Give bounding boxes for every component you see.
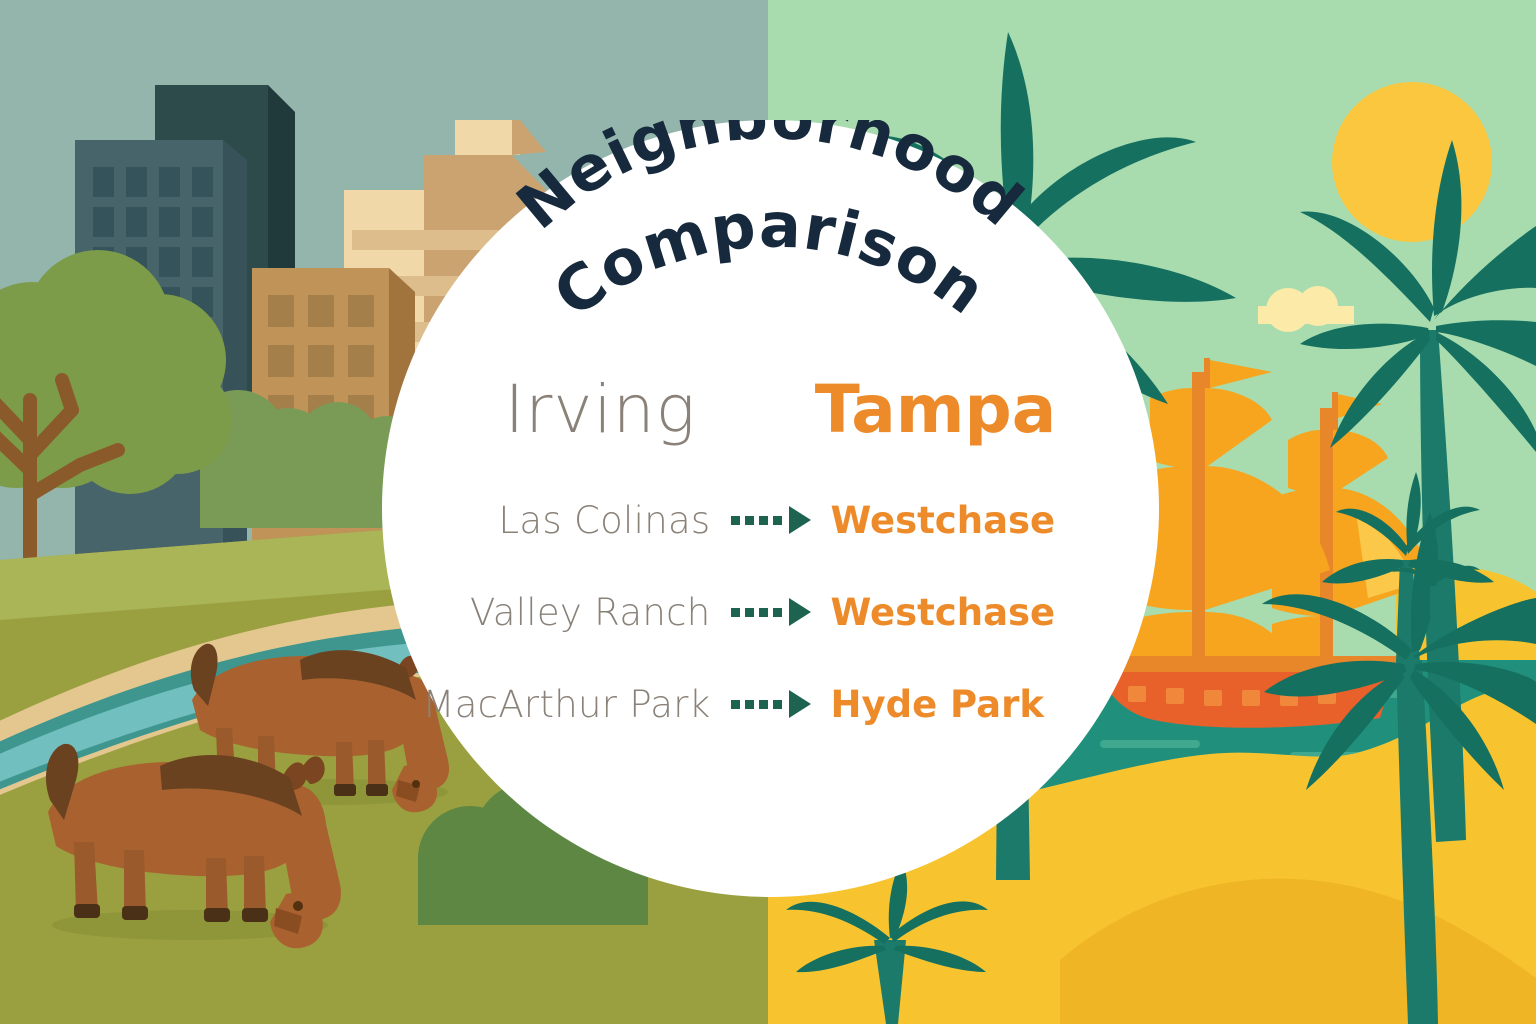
city-name-left: Irving	[436, 377, 766, 443]
dotted-arrow-right-icon	[725, 690, 817, 718]
comparison-list: Las Colinas Westchase Valley Ranch Westc…	[382, 495, 1159, 729]
infographic-canvas: Neighborhood Comparison Irving Tampa Las…	[0, 0, 1536, 1024]
arrow-dot	[731, 608, 740, 617]
arrow-dot	[773, 608, 782, 617]
arrow-head	[789, 690, 811, 718]
dotted-arrow-right-icon	[725, 598, 817, 626]
arrow-head	[789, 598, 811, 626]
arrow-dot	[773, 700, 782, 709]
comparison-row: Valley Ranch Westchase	[382, 587, 1159, 637]
city-name-right: Tampa	[766, 377, 1106, 443]
neighborhood-to: Westchase	[817, 591, 1131, 634]
arrow-dot	[731, 516, 740, 525]
arrow-dot	[759, 516, 768, 525]
neighborhood-from: Valley Ranch	[411, 591, 725, 634]
comparison-row: MacArthur Park Hyde Park	[382, 679, 1159, 729]
arrow-dot	[745, 608, 754, 617]
neighborhood-from: MacArthur Park	[411, 683, 725, 726]
neighborhood-to: Hyde Park	[817, 683, 1131, 726]
title-line-2: Comparison	[540, 188, 1000, 331]
dotted-arrow-right-icon	[725, 506, 817, 534]
arrow-dot	[773, 516, 782, 525]
arrow-dot	[731, 700, 740, 709]
arrow-head	[789, 506, 811, 534]
arrow-dot	[745, 516, 754, 525]
arrow-dot	[759, 700, 768, 709]
sun	[1332, 82, 1492, 242]
city-headers: Irving Tampa	[382, 355, 1159, 465]
neighborhood-to: Westchase	[817, 499, 1131, 542]
arrow-dot	[759, 608, 768, 617]
neighborhood-from: Las Colinas	[411, 499, 725, 542]
arrow-dot	[745, 700, 754, 709]
comparison-row: Las Colinas Westchase	[382, 495, 1159, 545]
